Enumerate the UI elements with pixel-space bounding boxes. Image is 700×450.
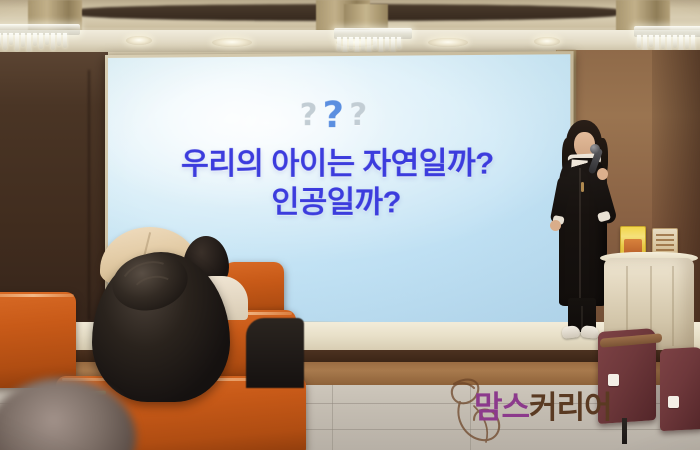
audience-seat (0, 292, 76, 388)
question-mark-icon: ? (323, 95, 350, 137)
question-mark-icon: ? (300, 98, 323, 134)
watermark-brand-moms: 맘스 (474, 390, 529, 425)
wall-seam (88, 70, 90, 320)
presenter-hand-right (597, 168, 608, 180)
presenter-shoe-left (561, 325, 580, 339)
microphone-head-icon (590, 144, 600, 154)
presenter-shoe-right (580, 325, 599, 339)
side-chair-leg (622, 418, 627, 444)
slide-title-line1: 우리의 아이는 자연일까? (181, 147, 494, 181)
question-mark-icon: ? (349, 98, 372, 134)
photograph: ??? 우리의 아이는 자연일까? 인공일까? (0, 0, 700, 450)
seat-number-tag (608, 374, 619, 386)
seat-number-tag (668, 396, 679, 408)
watermark-brand-career: 커리어 (529, 390, 612, 425)
slide-title-line2: 인공일까? (108, 184, 570, 224)
downlight-icon (428, 38, 468, 47)
presenter-necklace (581, 182, 584, 192)
audience-person-shoulder (246, 318, 304, 388)
downlight-icon (212, 38, 252, 47)
watermark: 맘스커리어 (474, 392, 612, 423)
seat-edge-highlight (0, 294, 74, 297)
downlight-icon (126, 36, 152, 45)
downlight-icon (534, 37, 560, 46)
slide-question-marks: ??? (108, 91, 570, 135)
side-chair (660, 347, 700, 431)
presenter-hand-left (550, 220, 561, 231)
slide-title: 우리의 아이는 자연일까? 인공일까? (108, 145, 570, 224)
tablecloth-fold (672, 266, 674, 346)
